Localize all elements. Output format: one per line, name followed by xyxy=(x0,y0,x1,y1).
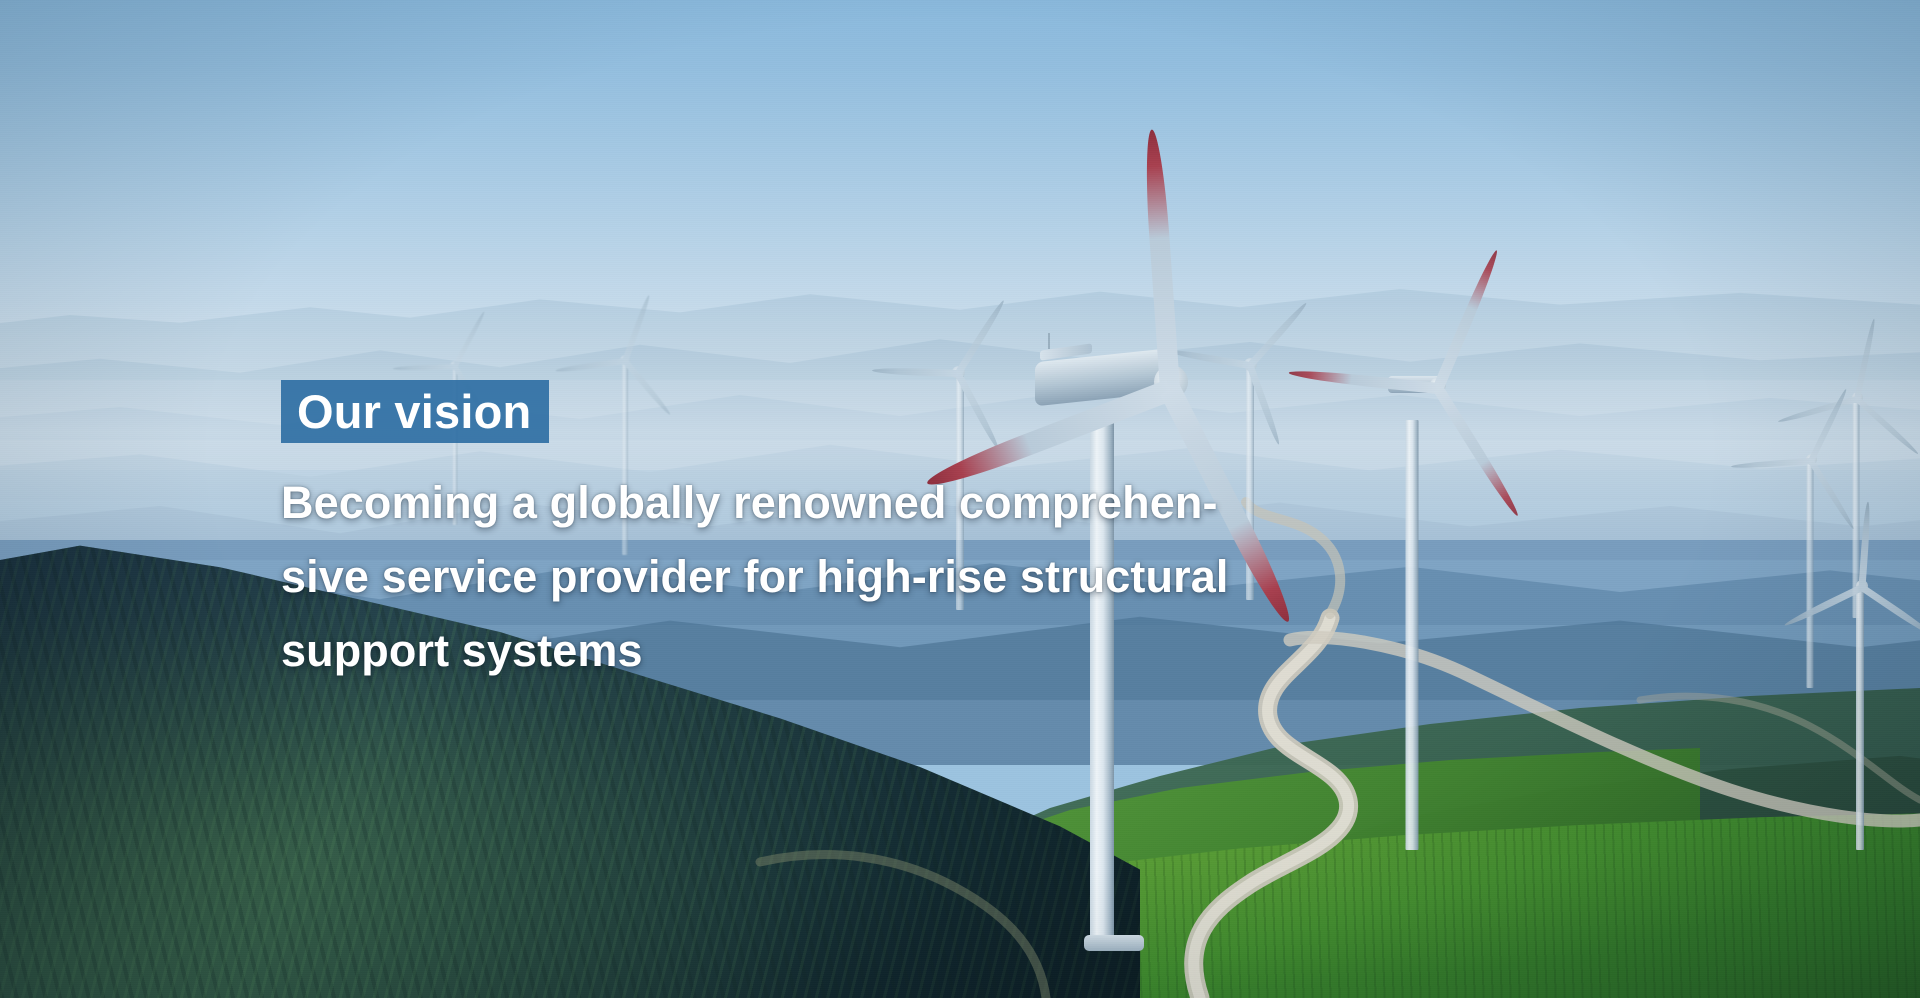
hero-banner: Our vision Becoming a globally renowned … xyxy=(0,0,1920,998)
turbine-anemometer-icon xyxy=(1048,333,1050,349)
vision-badge: Our vision xyxy=(281,380,549,443)
turbine-blade xyxy=(1783,584,1863,628)
turbine-base xyxy=(1084,935,1144,951)
vision-statement-line-3: support systems xyxy=(281,614,1371,688)
turbine-blade xyxy=(622,294,652,362)
turbine-blade xyxy=(1433,386,1522,519)
hero-content: Our vision Becoming a globally renowned … xyxy=(281,380,1401,688)
turbine-blade xyxy=(453,311,487,368)
turbine-blade xyxy=(1860,585,1920,639)
vision-statement: Becoming a globally renowned comprehen- … xyxy=(281,466,1371,688)
vision-statement-line-2: sive service provider for high-rise stru… xyxy=(281,540,1371,614)
turbine-blade xyxy=(1808,388,1848,463)
turbine-blade xyxy=(555,358,625,374)
vision-statement-line-1: Becoming a globally renowned comprehen- xyxy=(281,466,1371,540)
turbine-tower xyxy=(1856,590,1864,850)
wind-turbine-far-right-front xyxy=(1790,520,1920,850)
turbine-tower xyxy=(1406,420,1419,850)
turbine-blade xyxy=(393,364,455,371)
